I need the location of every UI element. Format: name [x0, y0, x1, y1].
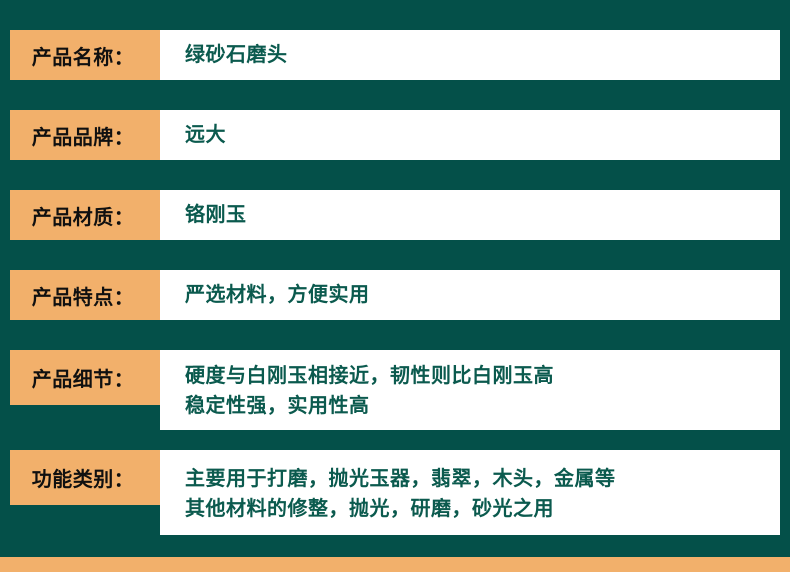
spec-value-product-name: 绿砂石磨头	[160, 30, 780, 80]
spec-value-line: 稳定性强，实用性高	[185, 391, 780, 421]
spec-row-function-category: 功能类别： 主要用于打磨，抛光玉器，翡翠，木头，金属等 其他材料的修整，抛光，研…	[10, 450, 780, 535]
spec-value-line: 铬刚玉	[185, 200, 780, 230]
spec-row-product-name: 产品名称： 绿砂石磨头	[10, 30, 780, 80]
spec-value-product-material: 铬刚玉	[160, 190, 780, 240]
spec-value-product-features: 严选材料，方便实用	[160, 270, 780, 320]
spec-label-product-details: 产品细节：	[10, 350, 160, 405]
spec-label-product-material: 产品材质：	[10, 190, 160, 240]
spec-value-line: 绿砂石磨头	[185, 40, 780, 70]
product-spec-sheet: 产品名称： 绿砂石磨头 产品品牌： 远大 产品材质： 铬刚玉 产品特点： 严选材…	[0, 0, 790, 572]
spec-label-product-brand: 产品品牌：	[10, 110, 160, 160]
spec-value-product-details: 硬度与白刚玉相接近，韧性则比白刚玉高 稳定性强，实用性高	[160, 350, 780, 430]
spec-value-line: 硬度与白刚玉相接近，韧性则比白刚玉高	[185, 361, 780, 391]
spec-value-product-brand: 远大	[160, 110, 780, 160]
spec-row-product-details: 产品细节： 硬度与白刚玉相接近，韧性则比白刚玉高 稳定性强，实用性高	[10, 350, 780, 430]
spec-row-product-features: 产品特点： 严选材料，方便实用	[10, 270, 780, 320]
spec-label-product-features: 产品特点：	[10, 270, 160, 320]
spec-row-product-brand: 产品品牌： 远大	[10, 110, 780, 160]
spec-label-product-name: 产品名称：	[10, 30, 160, 80]
spec-label-function-category: 功能类别：	[10, 450, 160, 505]
spec-row-product-material: 产品材质： 铬刚玉	[10, 190, 780, 240]
bottom-accent-bar	[0, 557, 790, 572]
spec-value-line: 主要用于打磨，抛光玉器，翡翠，木头，金属等	[185, 464, 780, 494]
spec-value-line: 远大	[185, 120, 780, 150]
spec-value-line: 其他材料的修整，抛光，研磨，砂光之用	[185, 494, 780, 524]
spec-value-line: 严选材料，方便实用	[185, 280, 780, 310]
spec-value-function-category: 主要用于打磨，抛光玉器，翡翠，木头，金属等 其他材料的修整，抛光，研磨，砂光之用	[160, 450, 780, 535]
